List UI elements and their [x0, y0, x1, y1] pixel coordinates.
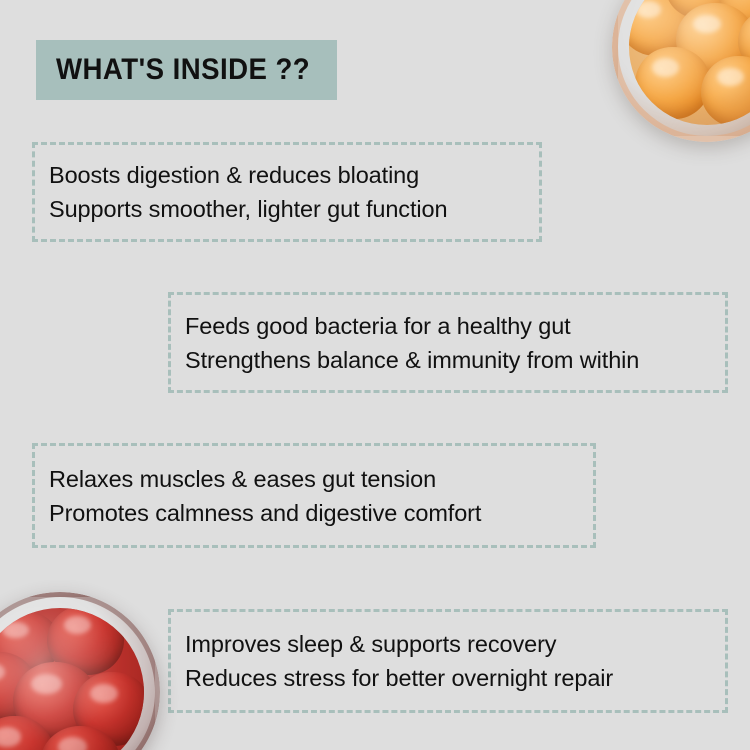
glass-bowl-rim [612, 0, 750, 142]
benefit-box-4: Improves sleep & supports recovery Reduc… [168, 609, 728, 713]
benefit-line-secondary: Strengthens balance & immunity from with… [185, 343, 717, 377]
benefit-line-primary: Boosts digestion & reduces bloating [49, 158, 531, 192]
benefit-box-2: Feeds good bacteria for a healthy gut St… [168, 292, 728, 393]
benefit-box-1: Boosts digestion & reduces bloating Supp… [32, 142, 542, 242]
benefit-line-primary: Improves sleep & supports recovery [185, 627, 717, 661]
benefit-line-primary: Relaxes muscles & eases gut tension [49, 462, 585, 496]
infographic-canvas: WHAT'S INSIDE ?? Boosts digestion & redu… [0, 0, 750, 750]
benefit-box-3: Relaxes muscles & eases gut tension Prom… [32, 443, 596, 548]
benefit-line-primary: Feeds good bacteria for a healthy gut [185, 309, 717, 343]
red-gummies-bowl-image [0, 592, 160, 750]
page-title-banner: WHAT'S INSIDE ?? [36, 40, 337, 100]
benefit-line-secondary: Promotes calmness and digestive comfort [49, 496, 585, 530]
benefit-line-secondary: Reduces stress for better overnight repa… [185, 661, 717, 695]
orange-gummies-bowl-image [612, 0, 750, 142]
benefit-line-secondary: Supports smoother, lighter gut function [49, 192, 531, 226]
glass-bowl-rim [0, 592, 160, 750]
page-title: WHAT'S INSIDE ?? [56, 53, 310, 87]
